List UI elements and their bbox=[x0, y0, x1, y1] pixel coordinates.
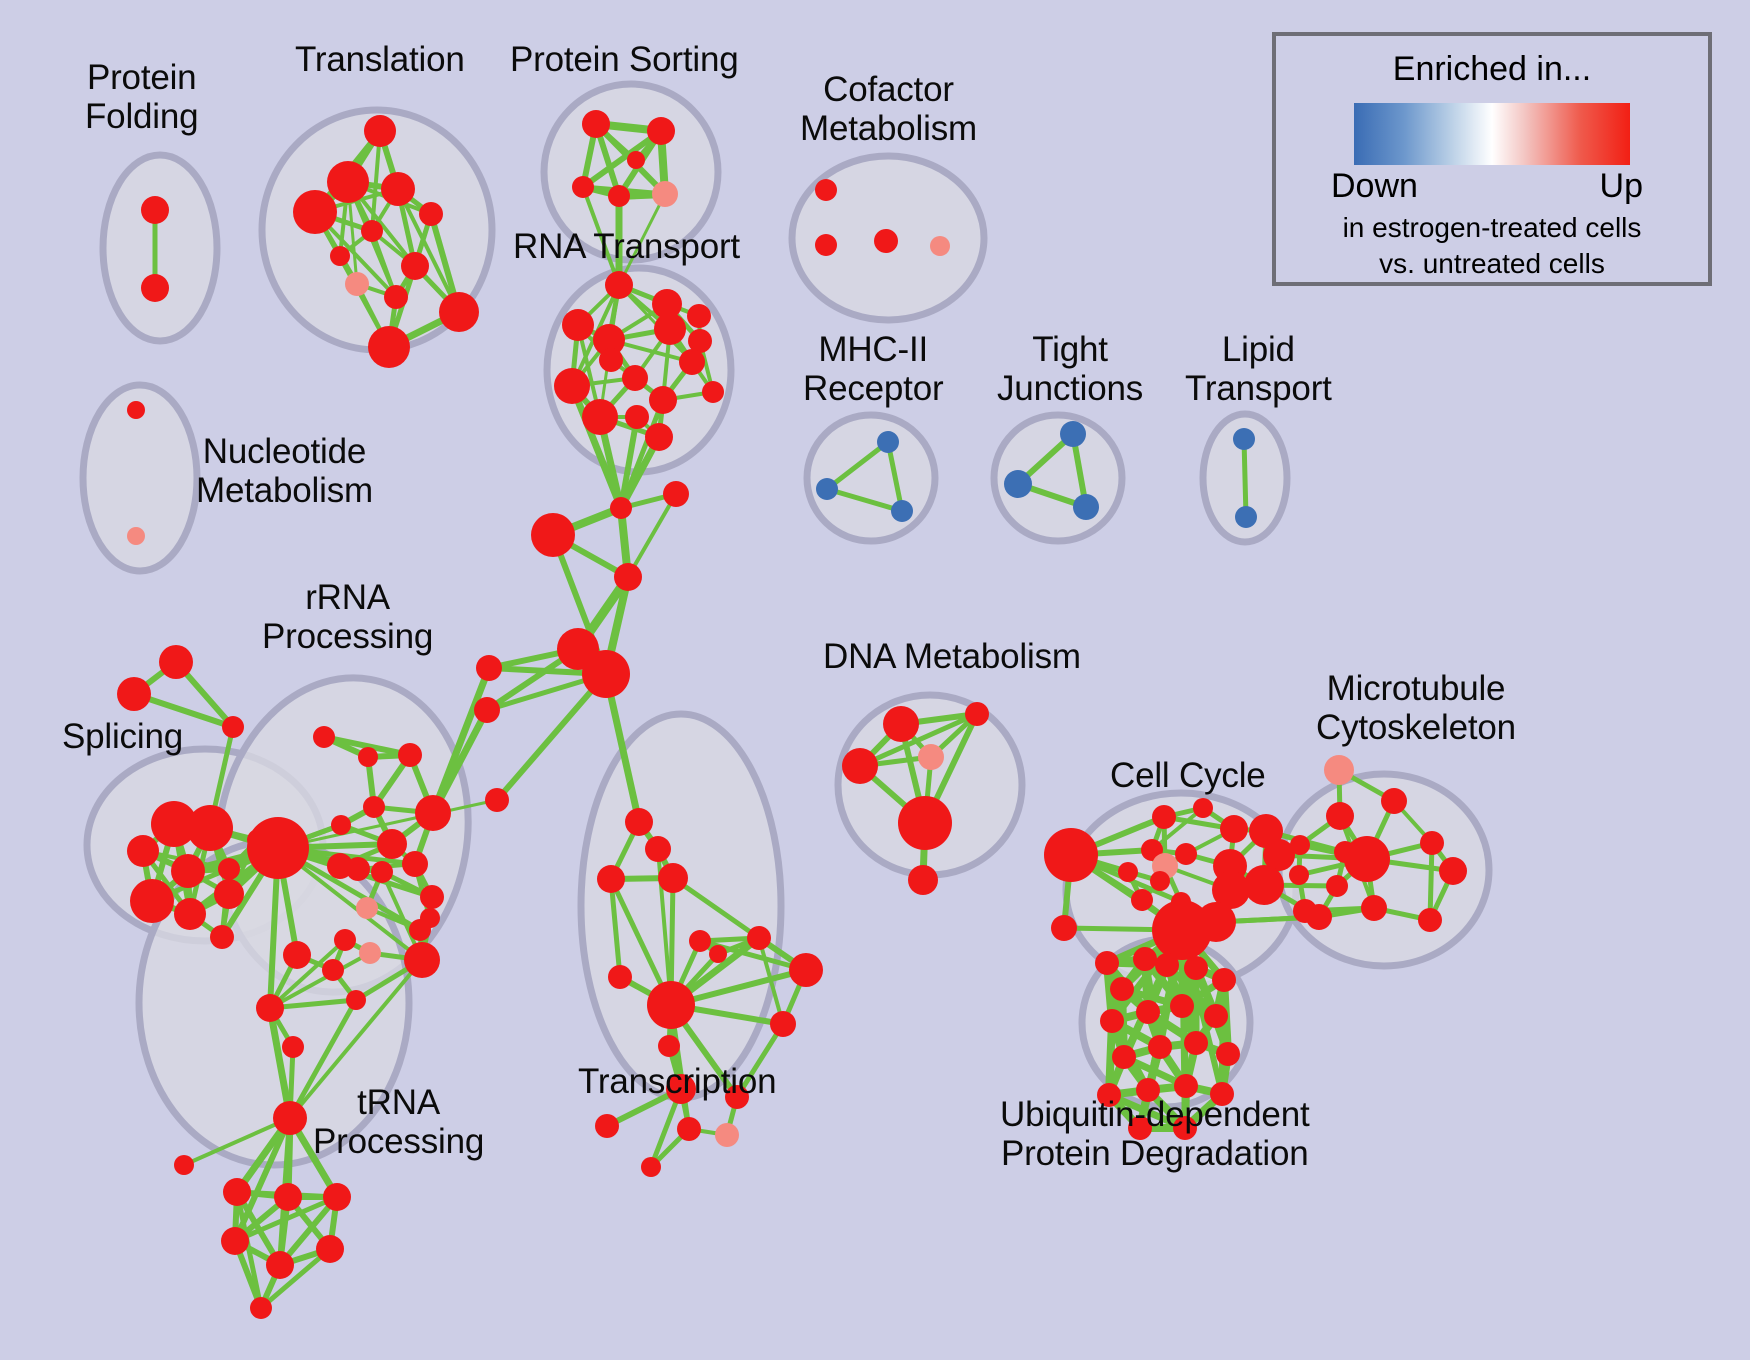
node-tn2[interactable] bbox=[174, 1155, 194, 1175]
node-mid3[interactable] bbox=[531, 513, 575, 557]
cluster-ellipse-protein-folding[interactable] bbox=[103, 155, 217, 341]
legend-high-label: Up bbox=[1600, 167, 1643, 206]
node-tx15[interactable] bbox=[595, 1114, 619, 1138]
node-cc2[interactable] bbox=[1193, 798, 1213, 818]
node-dn3[interactable] bbox=[842, 748, 878, 784]
node-ps1[interactable] bbox=[582, 110, 610, 138]
node-rr5[interactable] bbox=[331, 815, 351, 835]
node-ub1[interactable] bbox=[1095, 951, 1119, 975]
node-cc3[interactable] bbox=[1220, 815, 1248, 843]
node-tr12[interactable] bbox=[330, 246, 350, 266]
cluster-label-dna-metabolism: DNA Metabolism bbox=[823, 637, 1081, 676]
node-ub14[interactable] bbox=[1216, 1042, 1240, 1066]
cluster-label-translation: Translation bbox=[295, 40, 465, 79]
node-ub10[interactable] bbox=[1204, 1004, 1228, 1028]
node-sp3[interactable] bbox=[222, 716, 244, 738]
cluster-label-rna-transport: RNA Transport bbox=[513, 227, 740, 266]
node-co4[interactable] bbox=[930, 236, 950, 256]
node-cc15[interactable] bbox=[1131, 889, 1153, 911]
node-mt9[interactable] bbox=[1361, 895, 1387, 921]
node-tn6[interactable] bbox=[221, 1227, 249, 1255]
node-rt7[interactable] bbox=[679, 349, 705, 375]
legend-caption-line1: in estrogen-treated cells bbox=[1276, 211, 1708, 245]
cluster-label-tight-junctions: Tight Junctions bbox=[997, 330, 1143, 408]
cluster-label-transcription: Transcription bbox=[578, 1062, 776, 1101]
node-rr24[interactable] bbox=[282, 1036, 304, 1058]
node-rt14[interactable] bbox=[599, 348, 623, 372]
node-nu1[interactable] bbox=[127, 401, 145, 419]
node-sp7[interactable] bbox=[171, 854, 205, 888]
node-rr15[interactable] bbox=[334, 929, 356, 951]
node-tx5[interactable] bbox=[689, 930, 711, 952]
node-tx1[interactable] bbox=[625, 808, 653, 836]
node-ub7[interactable] bbox=[1100, 1009, 1124, 1033]
node-cc14[interactable] bbox=[1118, 862, 1138, 882]
node-ps5[interactable] bbox=[652, 181, 678, 207]
legend-color-gradient bbox=[1354, 103, 1630, 165]
node-tx17[interactable] bbox=[715, 1123, 739, 1147]
node-ub4[interactable] bbox=[1155, 953, 1179, 977]
node-tn4[interactable] bbox=[274, 1183, 302, 1211]
node-rr14[interactable] bbox=[420, 885, 444, 909]
node-tr2[interactable] bbox=[327, 161, 369, 203]
node-tx18[interactable] bbox=[641, 1157, 661, 1177]
node-tr3[interactable] bbox=[381, 172, 415, 206]
node-dn1[interactable] bbox=[883, 706, 919, 742]
node-rr3[interactable] bbox=[398, 743, 422, 767]
cluster-label-rrna-processing: rRNA Processing bbox=[262, 578, 433, 656]
node-cc5[interactable] bbox=[1044, 828, 1098, 882]
node-mt8[interactable] bbox=[1439, 857, 1467, 885]
cluster-label-cofactor-metabolism: Cofactor Metabolism bbox=[800, 70, 977, 148]
node-tn8[interactable] bbox=[266, 1251, 294, 1279]
node-tr9[interactable] bbox=[384, 285, 408, 309]
cluster-label-mhc-ii-receptor: MHC-II Receptor bbox=[803, 330, 943, 408]
node-sp2[interactable] bbox=[117, 677, 151, 711]
enrichment-map-canvas: Protein FoldingTranslationProtein Sortin… bbox=[0, 0, 1750, 1360]
edge[interactable] bbox=[1222, 980, 1224, 1094]
node-lt1[interactable] bbox=[1233, 428, 1255, 450]
node-co2[interactable] bbox=[815, 234, 837, 256]
node-tr4[interactable] bbox=[293, 190, 337, 234]
node-mid4[interactable] bbox=[614, 563, 642, 591]
node-mt6[interactable] bbox=[1420, 831, 1444, 855]
node-cc20[interactable] bbox=[1051, 915, 1077, 941]
node-sp11[interactable] bbox=[174, 898, 206, 930]
node-mid1[interactable] bbox=[610, 497, 632, 519]
node-ub2[interactable] bbox=[1110, 977, 1134, 1001]
node-tr10[interactable] bbox=[439, 292, 479, 332]
node-mt11[interactable] bbox=[1418, 908, 1442, 932]
node-co1[interactable] bbox=[815, 179, 837, 201]
node-tx11[interactable] bbox=[770, 1011, 796, 1037]
node-sp5[interactable] bbox=[187, 805, 233, 851]
node-lt2[interactable] bbox=[1235, 506, 1257, 528]
node-rt15[interactable] bbox=[687, 304, 711, 328]
node-rr7[interactable] bbox=[377, 829, 407, 859]
node-mt1[interactable] bbox=[1324, 755, 1354, 785]
node-sp10[interactable] bbox=[130, 879, 174, 923]
node-tn5[interactable] bbox=[323, 1183, 351, 1211]
node-pf2[interactable] bbox=[141, 274, 169, 302]
node-tx6[interactable] bbox=[747, 926, 771, 950]
node-rr10[interactable] bbox=[346, 857, 370, 881]
node-rr13[interactable] bbox=[356, 897, 378, 919]
node-sp8[interactable] bbox=[218, 858, 240, 880]
node-tj1[interactable] bbox=[1060, 421, 1086, 447]
node-tx7[interactable] bbox=[709, 945, 727, 963]
node-mt7[interactable] bbox=[1289, 865, 1309, 885]
cluster-label-protein-sorting: Protein Sorting bbox=[510, 40, 739, 79]
node-cc1[interactable] bbox=[1152, 805, 1176, 829]
node-nu2[interactable] bbox=[127, 527, 145, 545]
legend-caption-line2: vs. untreated cells bbox=[1276, 247, 1708, 281]
node-mh1[interactable] bbox=[877, 431, 899, 453]
node-ub8[interactable] bbox=[1136, 1000, 1160, 1024]
node-mid9[interactable] bbox=[485, 788, 509, 812]
node-rt11[interactable] bbox=[649, 386, 677, 414]
node-rr2[interactable] bbox=[358, 747, 378, 767]
node-rt10[interactable] bbox=[702, 381, 724, 403]
node-rt1[interactable] bbox=[605, 271, 633, 299]
node-dn5[interactable] bbox=[898, 796, 952, 850]
node-tr1[interactable] bbox=[364, 115, 396, 147]
node-rr20[interactable] bbox=[283, 941, 311, 969]
node-rr18[interactable] bbox=[359, 942, 381, 964]
node-dn4[interactable] bbox=[918, 744, 944, 770]
legend-panel: Enriched in... Down Up in estrogen-treat… bbox=[1272, 32, 1712, 286]
node-ub11[interactable] bbox=[1112, 1045, 1136, 1069]
node-ub5[interactable] bbox=[1184, 956, 1208, 980]
node-mt5[interactable] bbox=[1344, 836, 1390, 882]
node-cc11[interactable] bbox=[1244, 865, 1284, 905]
node-ub12[interactable] bbox=[1148, 1035, 1172, 1059]
node-tr6[interactable] bbox=[361, 220, 383, 242]
cluster-label-microtubule-cytoskeleton: Microtubule Cytoskeleton bbox=[1316, 669, 1516, 747]
node-rr19[interactable] bbox=[404, 942, 440, 978]
node-tn9[interactable] bbox=[250, 1297, 272, 1319]
node-tr5[interactable] bbox=[419, 202, 443, 226]
node-mt10[interactable] bbox=[1293, 899, 1317, 923]
node-tx8[interactable] bbox=[608, 965, 632, 989]
edge[interactable] bbox=[1244, 439, 1246, 517]
node-rr17[interactable] bbox=[420, 908, 440, 928]
node-rr6[interactable] bbox=[415, 795, 451, 831]
node-rr12[interactable] bbox=[371, 861, 393, 883]
legend-title: Enriched in... bbox=[1276, 50, 1708, 89]
cluster-label-cell-cycle: Cell Cycle bbox=[1110, 756, 1266, 795]
node-tn3[interactable] bbox=[223, 1178, 251, 1206]
node-co3[interactable] bbox=[874, 229, 898, 253]
node-mid7[interactable] bbox=[476, 655, 502, 681]
node-cc13[interactable] bbox=[1150, 871, 1170, 891]
node-rr23[interactable] bbox=[256, 994, 284, 1022]
node-pf1[interactable] bbox=[141, 196, 169, 224]
node-tx4[interactable] bbox=[597, 865, 625, 893]
node-rr1[interactable] bbox=[313, 726, 335, 748]
node-ub3[interactable] bbox=[1133, 947, 1157, 971]
node-mt2[interactable] bbox=[1381, 788, 1407, 814]
node-dn6[interactable] bbox=[908, 865, 938, 895]
node-rt12[interactable] bbox=[582, 399, 618, 435]
node-tx10[interactable] bbox=[647, 981, 695, 1029]
node-ub9[interactable] bbox=[1170, 994, 1194, 1018]
node-tr11[interactable] bbox=[368, 326, 410, 368]
node-mt4[interactable] bbox=[1290, 835, 1310, 855]
node-ps3[interactable] bbox=[572, 176, 594, 198]
cluster-label-nucleotide-metabolism: Nucleotide Metabolism bbox=[196, 432, 373, 510]
node-sp13[interactable] bbox=[210, 925, 234, 949]
node-rt9[interactable] bbox=[554, 368, 590, 404]
node-tn7[interactable] bbox=[316, 1235, 344, 1263]
cluster-label-splicing: Splicing bbox=[62, 717, 183, 756]
node-rt16[interactable] bbox=[625, 405, 649, 429]
node-ub13[interactable] bbox=[1184, 1031, 1208, 1055]
node-rr22[interactable] bbox=[346, 990, 366, 1010]
node-mh3[interactable] bbox=[891, 500, 913, 522]
node-rr21[interactable] bbox=[322, 959, 344, 981]
node-cc22[interactable] bbox=[1196, 902, 1236, 942]
node-rr11[interactable] bbox=[402, 851, 428, 877]
node-cc7[interactable] bbox=[1175, 843, 1197, 865]
node-ps6[interactable] bbox=[627, 151, 645, 169]
node-cc18[interactable] bbox=[1326, 875, 1348, 897]
node-tx2[interactable] bbox=[645, 836, 671, 862]
cluster-label-protein-folding: Protein Folding bbox=[85, 58, 198, 136]
node-rt13[interactable] bbox=[645, 423, 673, 451]
node-rt4[interactable] bbox=[654, 313, 686, 345]
node-tx16[interactable] bbox=[677, 1117, 701, 1141]
node-sp12[interactable] bbox=[214, 879, 244, 909]
node-tx12[interactable] bbox=[658, 1035, 680, 1057]
cluster-label-ubiquitin-protein-degradation: Ubiquitin-dependent Protein Degradation bbox=[1000, 1095, 1310, 1173]
node-sp6[interactable] bbox=[127, 835, 159, 867]
cluster-ellipse-mhc-ii-receptor[interactable] bbox=[807, 415, 935, 541]
node-ps4[interactable] bbox=[608, 185, 630, 207]
node-mt3[interactable] bbox=[1326, 802, 1354, 830]
node-rr4[interactable] bbox=[363, 796, 385, 818]
node-rr8[interactable] bbox=[247, 817, 309, 879]
legend-low-label: Down bbox=[1331, 167, 1418, 206]
node-mid6[interactable] bbox=[582, 650, 630, 698]
cluster-label-lipid-transport: Lipid Transport bbox=[1185, 330, 1332, 408]
node-sp1[interactable] bbox=[159, 645, 193, 679]
node-tr7[interactable] bbox=[401, 252, 429, 280]
node-tj3[interactable] bbox=[1073, 494, 1099, 520]
node-tx3[interactable] bbox=[658, 863, 688, 893]
node-tr8[interactable] bbox=[345, 272, 369, 296]
node-dn2[interactable] bbox=[965, 702, 989, 726]
node-ps2[interactable] bbox=[647, 117, 675, 145]
node-ub6[interactable] bbox=[1212, 968, 1236, 992]
node-tx9[interactable] bbox=[789, 953, 823, 987]
cluster-label-trna-processing: tRNA Processing bbox=[313, 1083, 484, 1161]
node-tj2[interactable] bbox=[1004, 470, 1032, 498]
node-mid2[interactable] bbox=[663, 481, 689, 507]
node-mh2[interactable] bbox=[816, 478, 838, 500]
node-mid8[interactable] bbox=[474, 697, 500, 723]
node-rt3[interactable] bbox=[562, 309, 594, 341]
node-rt8[interactable] bbox=[622, 365, 648, 391]
node-tn1[interactable] bbox=[273, 1101, 307, 1135]
